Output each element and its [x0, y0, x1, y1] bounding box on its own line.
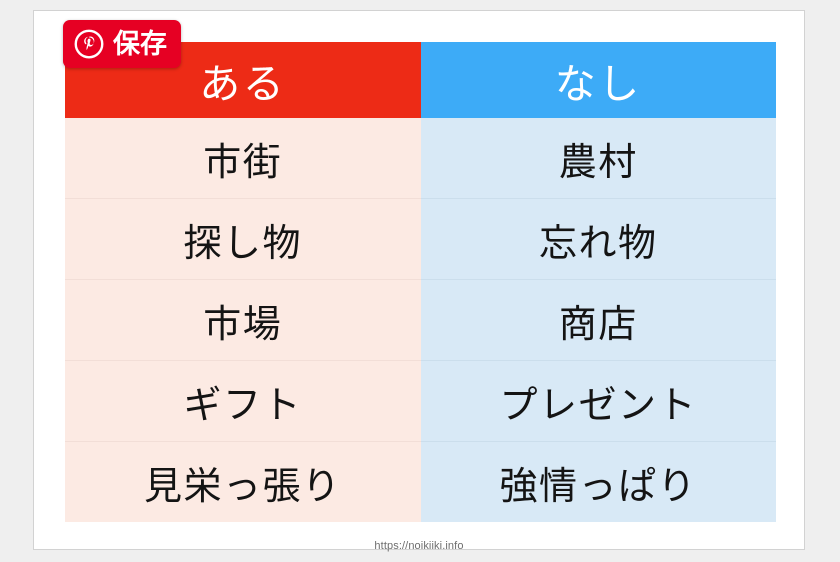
pinterest-save-button[interactable]: 保存: [63, 20, 181, 68]
pinterest-icon: [74, 29, 104, 59]
cell-nashi: 農村: [421, 118, 777, 199]
table-row: 探し物 忘れ物: [65, 199, 776, 280]
cell-aru: 探し物: [65, 199, 421, 280]
table-body: 市街 農村 探し物 忘れ物 市場 商店 ギフト プレゼント 見栄っ張り 強情っぱ…: [65, 118, 776, 522]
cell-nashi: 忘れ物: [421, 199, 777, 280]
table-row: 市場 商店: [65, 280, 776, 361]
source-url-watermark: https://noikiiki.info: [34, 540, 804, 552]
cell-aru: ギフト: [65, 361, 421, 442]
column-header-nashi: なし: [421, 42, 777, 118]
table-row: 市街 農村: [65, 118, 776, 199]
comparison-table: ある なし 市街 農村 探し物 忘れ物 市場 商店 ギフト プレゼント 見栄っ張: [65, 42, 776, 522]
cell-aru: 市街: [65, 118, 421, 199]
cell-nashi: 強情っぱり: [421, 442, 777, 523]
table-row: 見栄っ張り 強情っぱり: [65, 442, 776, 523]
pinterest-save-label: 保存: [113, 31, 167, 58]
content-card: ある なし 市街 農村 探し物 忘れ物 市場 商店 ギフト プレゼント 見栄っ張: [33, 10, 805, 550]
cell-aru: 見栄っ張り: [65, 442, 421, 523]
cell-aru: 市場: [65, 280, 421, 361]
cell-nashi: プレゼント: [421, 361, 777, 442]
table-row: ギフト プレゼント: [65, 361, 776, 442]
cell-nashi: 商店: [421, 280, 777, 361]
